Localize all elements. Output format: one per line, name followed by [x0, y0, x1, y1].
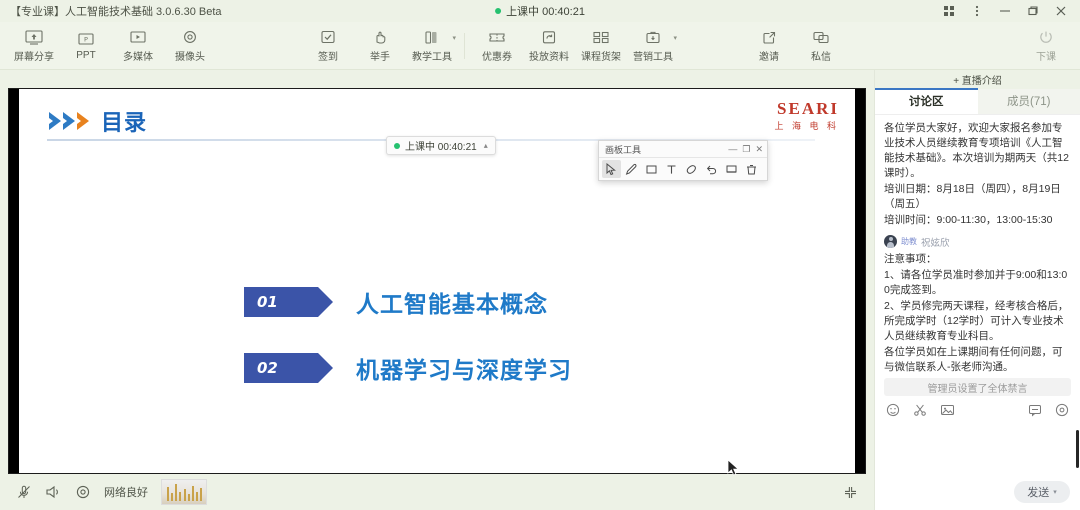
emoji-icon[interactable]	[886, 403, 900, 422]
chat-input-toolbar-right	[1028, 403, 1069, 422]
slide-header: 目录	[47, 105, 147, 137]
chat-note-line: 各位学员如在上课期间有任何问题，可与微信联系人-张老师沟通。	[884, 345, 1071, 373]
double-chevron-icon	[47, 110, 91, 132]
company-logo: SEARI 上 海 电 科	[774, 99, 839, 132]
trash-tool-icon[interactable]	[742, 160, 761, 178]
rectangle-tool-icon[interactable]	[642, 160, 661, 178]
image-icon[interactable]	[940, 403, 955, 422]
tab-members[interactable]: 成员(71)	[978, 89, 1080, 114]
toolbar-label: 签到	[318, 48, 338, 63]
app-title: 【专业课】人工智能技术基础 3.0.6.30 Beta	[10, 3, 222, 19]
main-toolbar: 屏幕分享 P PPT 多媒体 摄像头 签到	[0, 22, 1080, 70]
speaker-icon[interactable]	[45, 484, 62, 500]
toolbar-item-multimedia[interactable]: 多媒体	[112, 24, 164, 68]
minimize-icon[interactable]	[992, 1, 1018, 21]
agenda-text: 人工智能基本概念	[356, 285, 548, 319]
quick-reply-icon[interactable]	[1028, 403, 1042, 422]
minimize-icon[interactable]: —	[728, 145, 737, 154]
agenda-number-badge: 02	[244, 353, 318, 383]
chevron-up-icon[interactable]: ▴	[484, 141, 488, 150]
window-controls	[936, 1, 1074, 21]
mute-notice-text: 管理员设置了全体禁言	[928, 380, 1028, 395]
title-bar: 【专业课】人工智能技术基础 3.0.6.30 Beta 上课中 00:40:21	[0, 0, 1080, 22]
toolbar-label: 邀请	[759, 48, 779, 63]
grid-view-icon[interactable]	[936, 1, 962, 21]
marketing-tools-icon	[645, 28, 661, 46]
send-button[interactable]: 发送 ▾	[1014, 481, 1070, 503]
toolbar-item-course-shelf[interactable]: 课程货架	[575, 24, 627, 68]
slide-agenda-list: 01 人工智能基本概念 02 机器学习与深度学习	[244, 285, 835, 417]
logo-sub-text: 上 海 电 科	[774, 119, 839, 132]
fullscreen-exit-icon[interactable]	[843, 485, 858, 500]
chat-settings-icon[interactable]	[1055, 403, 1069, 422]
slide-title: 目录	[101, 105, 147, 137]
close-icon[interactable]	[1048, 1, 1074, 21]
drawing-toolbar-header: 画板工具 — ❐ ✕	[599, 141, 767, 158]
microphone-muted-icon[interactable]	[16, 484, 32, 500]
toolbar-item-camera[interactable]: 摄像头	[164, 24, 216, 68]
chat-message-sender: 助教 祝妶欣	[884, 235, 1071, 249]
select-tool-icon[interactable]	[602, 160, 621, 178]
maximize-icon[interactable]	[1020, 1, 1046, 21]
ppt-icon: P	[77, 30, 95, 48]
private-message-icon	[812, 28, 830, 46]
toolbar-item-invite[interactable]: 邀请	[743, 24, 795, 68]
toolbar-label: 教学工具	[412, 48, 452, 63]
chat-note-line: 1、请各位学员准时参加并于9:00和13:00完成签到。	[884, 268, 1071, 298]
live-class-app: 【专业课】人工智能技术基础 3.0.6.30 Beta 上课中 00:40:21	[0, 0, 1080, 510]
live-dot-icon	[495, 8, 501, 14]
tab-discussion[interactable]: 讨论区	[875, 89, 978, 114]
raise-hand-icon	[372, 28, 388, 46]
toolbar-divider	[464, 33, 465, 59]
floating-timer-text: 上课中 00:40:21	[405, 138, 477, 153]
tab-label: 成员(71)	[1007, 93, 1050, 109]
logo-main-text: SEARI	[774, 99, 839, 119]
multimedia-icon	[129, 28, 147, 46]
screen-share-icon	[25, 28, 43, 46]
course-shelf-icon	[592, 28, 610, 46]
scissors-icon[interactable]	[913, 403, 927, 422]
toolbar-label: 下课	[1036, 48, 1056, 63]
toolbar-item-check-in[interactable]: 签到	[302, 24, 354, 68]
toolbar-label: 摄像头	[175, 48, 205, 63]
more-options-icon[interactable]	[964, 1, 990, 21]
chat-note-line: 注意事项：	[884, 252, 1071, 267]
class-status-text: 上课中 00:40:21	[506, 3, 585, 19]
camera-icon	[181, 28, 199, 46]
chevron-down-icon: ▾	[673, 34, 677, 42]
app-body: 目录 SEARI 上 海 电 科 01 人工智能基本概念 02	[0, 70, 1080, 510]
presentation-stage: 目录 SEARI 上 海 电 科 01 人工智能基本概念 02	[0, 70, 874, 510]
invite-icon	[761, 28, 777, 46]
toolbar-label: 屏幕分享	[14, 48, 54, 63]
list-item: 01 人工智能基本概念	[244, 285, 835, 319]
send-row: 发送 ▾	[875, 478, 1080, 510]
class-status: 上课中 00:40:21	[495, 3, 585, 19]
drawing-toolbar-window[interactable]: 画板工具 — ❐ ✕	[598, 140, 768, 181]
chat-message-body: 培训时间：9:00-11:30，13:00-15:30	[884, 213, 1071, 228]
chat-input[interactable]	[875, 424, 1080, 478]
svg-text:P: P	[84, 35, 88, 43]
eraser-tool-icon[interactable]	[682, 160, 701, 178]
panel-tabs: 讨论区 成员(71)	[875, 89, 1080, 115]
chevron-down-icon[interactable]: ▾	[1053, 488, 1057, 496]
chat-input-toolbar	[875, 400, 1080, 424]
whiteboard-tool-icon[interactable]	[722, 160, 741, 178]
chat-message-body: 各位学员大家好，欢迎大家报名参加专业技术人员继续教育专项培训《人工智能技术基础》…	[884, 121, 1071, 181]
right-panel: + 直播介绍 讨论区 成员(71) 各位学员大家好，欢迎大家报名参加专业技术人员…	[874, 70, 1080, 510]
toolbar-item-teaching-tools[interactable]: ▾ 教学工具	[406, 24, 458, 68]
check-in-icon	[320, 28, 336, 46]
toolbar-item-ppt[interactable]: P PPT	[60, 24, 112, 68]
close-icon[interactable]: ✕	[755, 145, 763, 154]
toolbar-label: 举手	[370, 48, 390, 63]
toolbar-label: 投放资料	[529, 48, 569, 63]
toolbar-label: 课程货架	[581, 48, 621, 63]
role-badge: 助教	[901, 238, 917, 246]
toolbar-item-private-message[interactable]: 私信	[795, 24, 847, 68]
tab-label: 讨论区	[909, 93, 944, 109]
drawing-window-controls: — ❐ ✕	[728, 145, 763, 154]
live-intro-button[interactable]: + 直播介绍	[875, 70, 1080, 89]
chat-message-list[interactable]: 各位学员大家好，欢迎大家报名参加专业技术人员继续教育专项培训《人工智能技术基础》…	[875, 115, 1080, 373]
drawing-tools-row	[599, 158, 767, 180]
toolbar-label: 多媒体	[123, 48, 153, 63]
toolbar-item-raise-hand[interactable]: 举手	[354, 24, 406, 68]
live-intro-label: + 直播介绍	[953, 72, 1002, 87]
chat-note-line: 2、学员修完两天课程，经考核合格后，所完成学时（12学时）可计入专业技术人员继续…	[884, 299, 1071, 344]
chat-scrollbar[interactable]	[1076, 430, 1079, 468]
camera-icon[interactable]	[75, 484, 91, 500]
drawing-toolbar-title: 画板工具	[605, 143, 641, 156]
toolbar-label: PPT	[76, 50, 95, 61]
toolbar-label: 私信	[811, 48, 831, 63]
list-item: 02 机器学习与深度学习	[244, 351, 835, 385]
avatar[interactable]	[884, 235, 897, 248]
toolbar-item-send-material[interactable]: 投放资料	[523, 24, 575, 68]
toolbar-item-marketing-tools[interactable]: ▾ 营销工具	[627, 24, 679, 68]
floating-class-timer[interactable]: 上课中 00:40:21 ▴	[386, 136, 496, 155]
end-class-icon	[1038, 28, 1054, 46]
text-tool-icon[interactable]	[662, 160, 681, 178]
maximize-icon[interactable]: ❐	[742, 145, 750, 154]
stage-status-bar: 网络良好	[8, 476, 866, 508]
send-material-icon	[541, 28, 557, 46]
toolbar-label: 营销工具	[633, 48, 673, 63]
toolbar-label: 优惠券	[482, 48, 512, 63]
send-button-label: 发送	[1027, 484, 1049, 500]
coupon-icon	[488, 28, 506, 46]
network-status-label: 网络良好	[104, 484, 148, 500]
chat-message-body: 培训日期：8月18日（周四），8月19日（周五）	[884, 182, 1071, 212]
mute-notice: 管理员设置了全体禁言	[884, 378, 1071, 396]
live-dot-icon	[394, 143, 400, 149]
undo-tool-icon[interactable]	[702, 160, 721, 178]
camera-preview-thumbnail[interactable]	[161, 479, 207, 505]
sender-name: 祝妶欣	[921, 235, 950, 249]
pen-tool-icon[interactable]	[622, 160, 641, 178]
teaching-tools-icon	[423, 28, 441, 46]
toolbar-item-screen-share[interactable]: 屏幕分享	[8, 24, 60, 68]
agenda-text: 机器学习与深度学习	[356, 351, 572, 385]
toolbar-item-coupon[interactable]: 优惠券	[471, 24, 523, 68]
chevron-down-icon: ▾	[452, 34, 456, 42]
toolbar-item-end-class[interactable]: 下课	[1020, 24, 1072, 68]
agenda-number-badge: 01	[244, 287, 318, 317]
